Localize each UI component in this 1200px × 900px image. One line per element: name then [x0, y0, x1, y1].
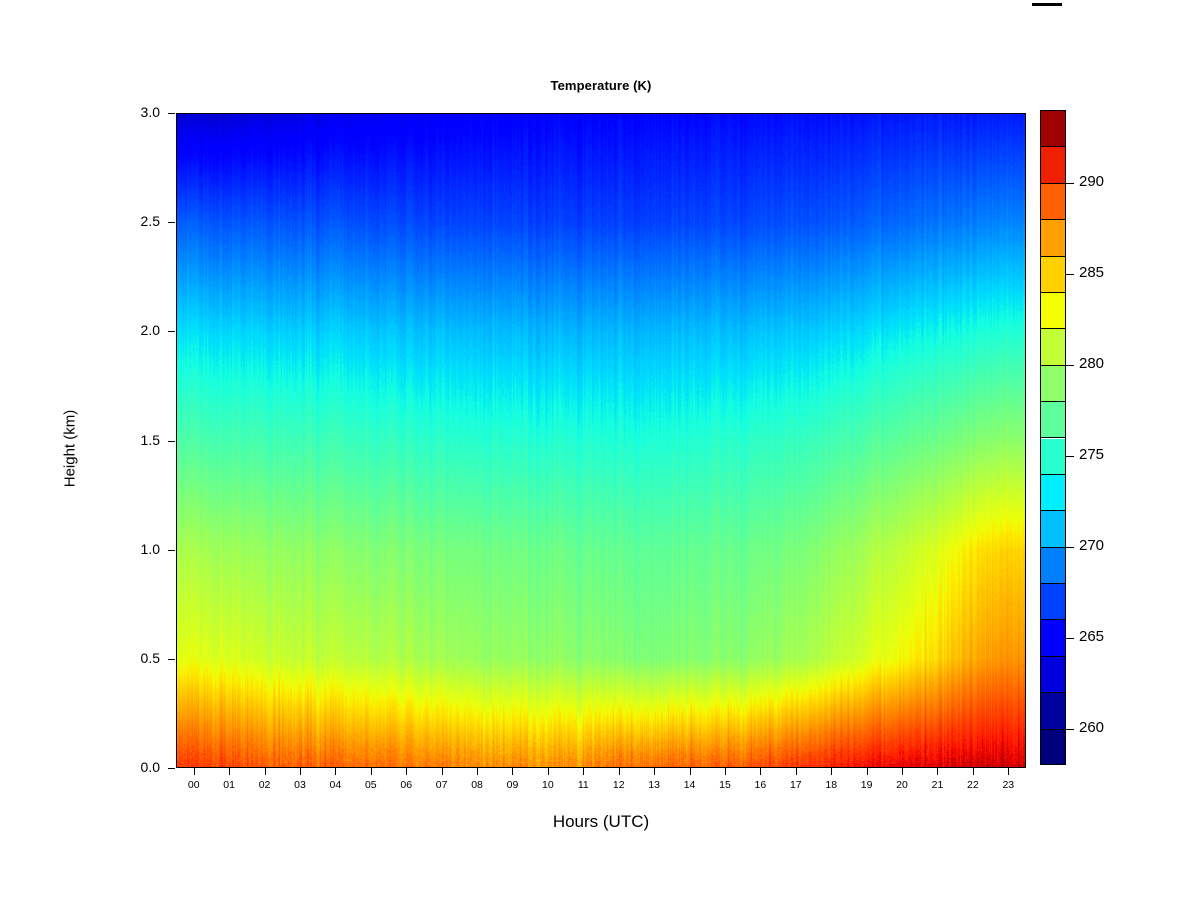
- y-tick-mark: [168, 441, 175, 442]
- x-tick-label: 13: [634, 779, 674, 791]
- y-tick-mark: [168, 113, 175, 114]
- colorbar-tick-mark: [1066, 547, 1074, 548]
- x-tick-mark: [335, 768, 336, 775]
- colorbar-block: [1041, 730, 1065, 765]
- x-tick-label: 06: [386, 779, 426, 791]
- y-tick-label: 0.0: [100, 759, 160, 775]
- colorbar-tick-label: 275: [1079, 446, 1104, 463]
- y-tick-label: 0.5: [100, 650, 160, 666]
- y-tick-label: 1.5: [100, 432, 160, 448]
- colorbar-block: [1041, 293, 1065, 329]
- x-tick-mark: [265, 768, 266, 775]
- x-tick-label: 01: [209, 779, 249, 791]
- y-tick-label: 1.0: [100, 541, 160, 557]
- x-tick-label: 11: [563, 779, 603, 791]
- x-tick-label: 05: [351, 779, 391, 791]
- colorbar-tick-label: 280: [1079, 355, 1104, 372]
- x-tick-label: 00: [174, 779, 214, 791]
- colorbar-block: [1041, 693, 1065, 729]
- temperature-heatmap: [177, 114, 1025, 767]
- x-tick-mark: [1008, 768, 1009, 775]
- colorbar: [1040, 110, 1066, 765]
- colorbar-block: [1041, 548, 1065, 584]
- x-tick-label: 20: [882, 779, 922, 791]
- x-tick-mark: [973, 768, 974, 775]
- x-tick-label: 15: [705, 779, 745, 791]
- plot-title: Temperature (K): [176, 78, 1026, 93]
- x-tick-mark: [583, 768, 584, 775]
- y-tick-mark: [168, 550, 175, 551]
- x-tick-mark: [937, 768, 938, 775]
- colorbar-block: [1041, 147, 1065, 183]
- x-tick-mark: [760, 768, 761, 775]
- x-tick-label: 04: [315, 779, 355, 791]
- x-tick-label: 14: [670, 779, 710, 791]
- x-tick-mark: [867, 768, 868, 775]
- colorbar-tick-label: 290: [1079, 173, 1104, 190]
- colorbar-block: [1041, 402, 1065, 438]
- x-axis-label: Hours (UTC): [176, 812, 1026, 832]
- colorbar-tick-mark: [1066, 456, 1074, 457]
- colorbar-block: [1041, 184, 1065, 220]
- x-tick-label: 12: [599, 779, 639, 791]
- x-tick-mark: [619, 768, 620, 775]
- x-tick-label: 21: [917, 779, 957, 791]
- x-tick-mark: [902, 768, 903, 775]
- colorbar-tick-label: 285: [1079, 264, 1104, 281]
- x-tick-mark: [725, 768, 726, 775]
- colorbar-tick-mark: [1066, 638, 1074, 639]
- x-tick-mark: [831, 768, 832, 775]
- colorbar-block: [1041, 511, 1065, 547]
- x-tick-label: 10: [528, 779, 568, 791]
- y-tick-mark: [168, 331, 175, 332]
- colorbar-block: [1041, 620, 1065, 656]
- y-tick-label: 3.0: [100, 104, 160, 120]
- colorbar-block: [1041, 329, 1065, 365]
- figure-canvas: Temperature (K) 000102030405060708091011…: [0, 0, 1200, 900]
- colorbar-tick-mark: [1066, 729, 1074, 730]
- x-tick-label: 07: [422, 779, 462, 791]
- colorbar-tick-mark: [1066, 365, 1074, 366]
- x-tick-mark: [796, 768, 797, 775]
- x-tick-mark: [406, 768, 407, 775]
- x-tick-mark: [442, 768, 443, 775]
- y-tick-mark: [168, 659, 175, 660]
- y-tick-mark: [168, 222, 175, 223]
- top-edge-artifact: [1032, 3, 1062, 6]
- x-tick-label: 16: [740, 779, 780, 791]
- x-tick-label: 03: [280, 779, 320, 791]
- heatmap-plot-area: [176, 113, 1026, 768]
- colorbar-block: [1041, 475, 1065, 511]
- y-axis-label: Height (km): [62, 349, 79, 549]
- colorbar-tick-mark: [1066, 274, 1074, 275]
- x-tick-mark: [548, 768, 549, 775]
- x-tick-label: 02: [245, 779, 285, 791]
- x-tick-label: 18: [811, 779, 851, 791]
- x-tick-mark: [371, 768, 372, 775]
- x-tick-label: 19: [847, 779, 887, 791]
- colorbar-tick-label: 260: [1079, 719, 1104, 736]
- x-tick-label: 23: [988, 779, 1028, 791]
- colorbar-block: [1041, 657, 1065, 693]
- x-tick-mark: [477, 768, 478, 775]
- colorbar-tick-label: 265: [1079, 628, 1104, 645]
- colorbar-block: [1041, 584, 1065, 620]
- x-tick-label: 09: [492, 779, 532, 791]
- colorbar-block: [1041, 220, 1065, 256]
- colorbar-block: [1041, 257, 1065, 293]
- colorbar-tick-mark: [1066, 183, 1074, 184]
- y-tick-label: 2.0: [100, 322, 160, 338]
- colorbar-tick-label: 270: [1079, 537, 1104, 554]
- x-tick-mark: [512, 768, 513, 775]
- x-tick-label: 22: [953, 779, 993, 791]
- x-tick-mark: [300, 768, 301, 775]
- y-tick-mark: [168, 768, 175, 769]
- colorbar-block: [1041, 111, 1065, 147]
- x-tick-label: 08: [457, 779, 497, 791]
- x-tick-label: 17: [776, 779, 816, 791]
- x-tick-mark: [690, 768, 691, 775]
- colorbar-block: [1041, 439, 1065, 475]
- x-tick-mark: [229, 768, 230, 775]
- x-tick-mark: [194, 768, 195, 775]
- y-tick-label: 2.5: [100, 213, 160, 229]
- x-tick-mark: [654, 768, 655, 775]
- colorbar-block: [1041, 366, 1065, 402]
